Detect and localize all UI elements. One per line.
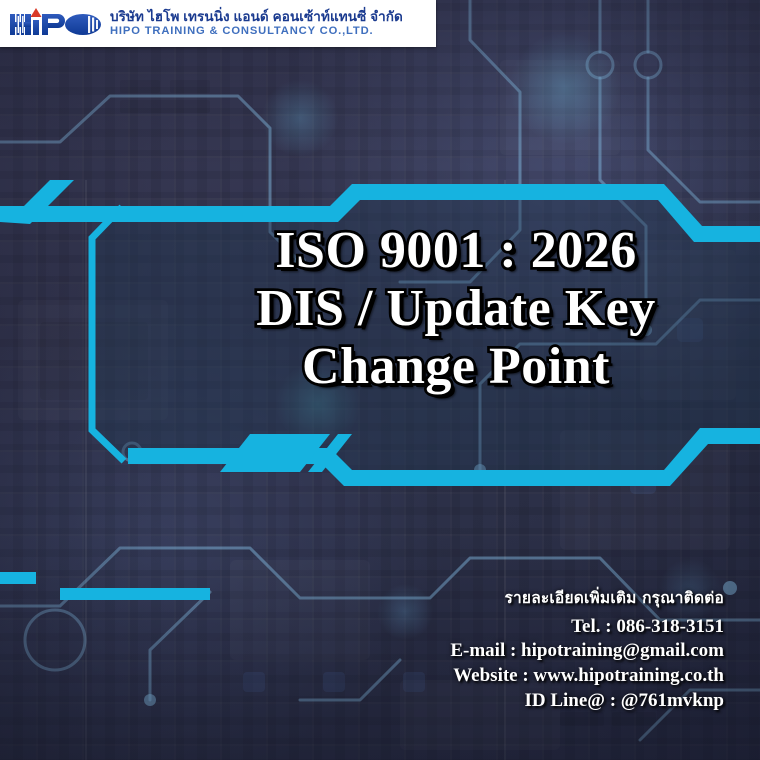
contact-website: Website : www.hipotraining.co.th (450, 664, 724, 689)
logo-triangle-icon (31, 8, 42, 17)
poster-title: ISO 9001 : 2026 DIS / Update Key Change … (176, 222, 736, 397)
poster-canvas: บริษัท ไฮโพ เทรนนิ่ง แอนด์ คอนเซ้าท์แทนซ… (0, 0, 760, 760)
contact-email: E-mail : hipotraining@gmail.com (450, 639, 724, 664)
contact-telephone: Tel. : 086-318-3151 (450, 615, 724, 640)
contact-line-id: ID Line@ : @761mvknp (450, 689, 724, 714)
company-header-bar: บริษัท ไฮโพ เทรนนิ่ง แอนด์ คอนเซ้าท์แทนซ… (0, 0, 436, 47)
company-name-block: บริษัท ไฮโพ เทรนนิ่ง แอนด์ คอนเซ้าท์แทนซ… (110, 10, 403, 37)
hipo-logo-icon (10, 8, 102, 40)
title-line-3: Change Point (176, 338, 736, 396)
title-line-2: DIS / Update Key (176, 280, 736, 338)
company-name-thai: บริษัท ไฮโพ เทรนนิ่ง แอนด์ คอนเซ้าท์แทนซ… (110, 10, 403, 24)
contact-block: รายละเอียดเพิ่มเติม กรุณาติดต่อ Tel. : 0… (450, 585, 724, 715)
contact-heading: รายละเอียดเพิ่มเติม กรุณาติดต่อ (450, 585, 724, 610)
title-line-1: ISO 9001 : 2026 (176, 222, 736, 280)
company-name-english: HIPO TRAINING & CONSULTANCY CO.,LTD. (110, 26, 403, 37)
